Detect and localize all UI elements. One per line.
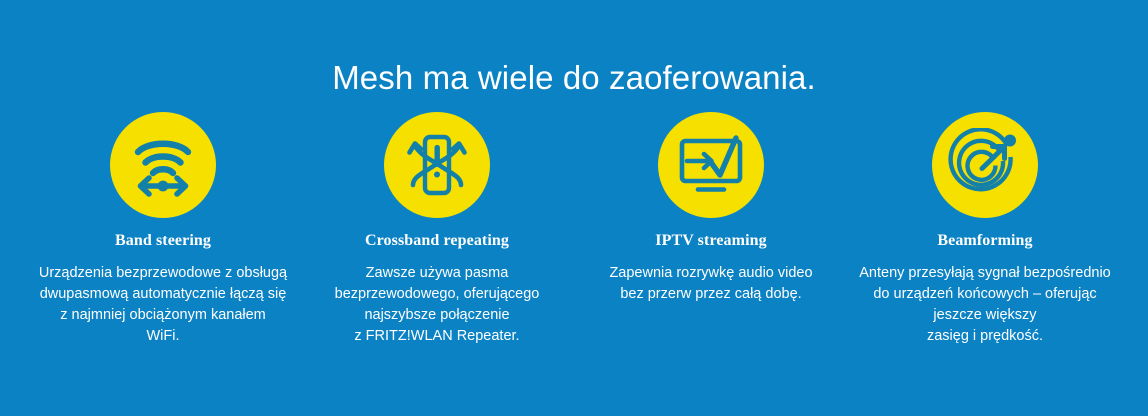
mesh-feature-banner: Mesh ma wiele do zaoferowania. bbox=[0, 0, 1148, 416]
feature-title: Band steering bbox=[115, 232, 211, 250]
feature-title: IPTV streaming bbox=[655, 232, 766, 250]
target-beamforming-icon bbox=[932, 112, 1038, 218]
feature-title: Crossband repeating bbox=[365, 232, 509, 250]
page-title: Mesh ma wiele do zaoferowania. bbox=[0, 58, 1148, 98]
feature-description: Urządzenia bezprzewodowe z obsługą dwupa… bbox=[27, 263, 299, 347]
wifi-band-steering-icon bbox=[110, 112, 216, 218]
feature-description: Anteny przesyłają sygnał bezpośrednio do… bbox=[849, 263, 1121, 347]
feature-columns: Band steering Urządzenia bezprzewodowe z… bbox=[26, 112, 1122, 347]
feature-description: Zapewnia rozrywkę audio video bez przerw… bbox=[591, 263, 831, 305]
feature-description: Zawsze używa pasma bezprzewodowego, ofer… bbox=[321, 263, 553, 347]
feature-crossband-repeating: Crossband repeating Zawsze używa pasma b… bbox=[300, 112, 574, 347]
crossband-router-arrows-icon bbox=[384, 112, 490, 218]
feature-title: Beamforming bbox=[937, 232, 1032, 250]
feature-iptv-streaming: IPTV streaming Zapewnia rozrywkę audio v… bbox=[574, 112, 848, 305]
tv-checkmark-icon bbox=[658, 112, 764, 218]
feature-band-steering: Band steering Urządzenia bezprzewodowe z… bbox=[26, 112, 300, 347]
feature-beamforming: Beamforming Anteny przesyłają sygnał bez… bbox=[848, 112, 1122, 347]
